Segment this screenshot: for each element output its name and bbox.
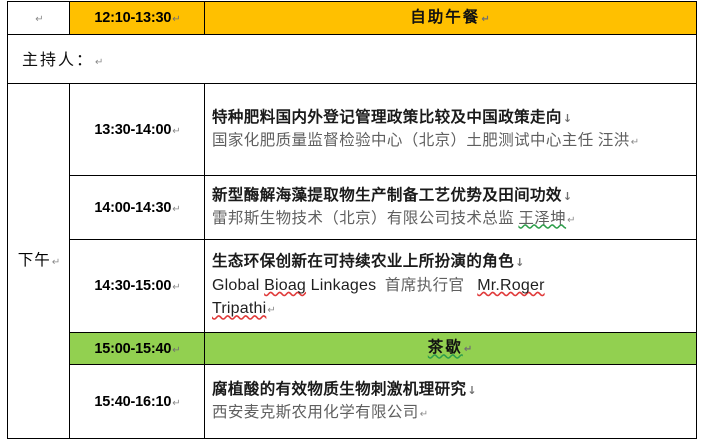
session-title: 新型酶解海藻提取物生产制备工艺优势及田间功效↓ [212, 185, 690, 207]
table-row: 主持人：↵ [8, 35, 697, 84]
speaker-role: 首席执行官 [385, 277, 465, 294]
cell-time-lunch[interactable]: 12:10-13:30↵ [70, 2, 205, 35]
agenda-table: ↵ 12:10-13:30↵ 自助午餐↵ 主 [7, 1, 697, 439]
cell-time-1430[interactable]: 14:30-15:00↵ [70, 240, 205, 333]
pilcrow-mark: ↵ [464, 344, 474, 355]
table-row: 下午↵ 13:30-14:00↵ 特种肥料国内外登记管理政策比较及中国政策走向↓… [8, 84, 697, 176]
soft-break-mark: ↓ [467, 384, 477, 397]
table-row: 15:00-15:40↵ 茶歇↵ [8, 333, 697, 365]
pilcrow-mark: ↵ [567, 215, 576, 226]
time-label: 14:30-15:00 [94, 278, 171, 294]
cell-time-1400[interactable]: 14:00-14:30↵ [70, 176, 205, 240]
org-name-part2: Bioag [264, 277, 306, 294]
pilcrow-mark: ↵ [481, 14, 491, 25]
pilcrow-mark: ↵ [267, 305, 276, 316]
pilcrow-mark: ↵ [172, 204, 180, 215]
speaker-name-last: Tripathi [212, 300, 266, 317]
session-speaker: 西安麦克斯农用化学有限公司↵ [212, 402, 690, 424]
pilcrow-mark: ↵ [35, 14, 43, 25]
session-speaker: 雷邦斯生物技术（北京）有限公司技术总监 王泽坤↵ [212, 208, 690, 230]
cell-detail-1330[interactable]: 特种肥料国内外登记管理政策比较及中国政策走向↓ 国家化肥质量监督检验中心（北京）… [205, 84, 697, 176]
pilcrow-mark: ↵ [172, 14, 180, 25]
time-label: 13:30-14:00 [94, 122, 171, 138]
session-title: 生态环保创新在可持续农业上所扮演的角色↓ [212, 251, 690, 273]
session-speaker-cont: Tripathi↵ [212, 297, 690, 320]
tea-break-label: 茶歇 [428, 339, 463, 356]
soft-break-mark: ↓ [563, 112, 573, 125]
soft-break-mark: ↓ [515, 256, 525, 269]
cell-detail-1540[interactable]: 腐植酸的有效物质生物刺激机理研究↓ 西安麦克斯农用化学有限公司↵ [205, 365, 697, 439]
pilcrow-mark: ↵ [172, 398, 180, 409]
session-speaker: 国家化肥质量监督检验中心（北京）土肥测试中心主任 汪洪↵ [212, 130, 690, 152]
table-row: 14:00-14:30↵ 新型酶解海藻提取物生产制备工艺优势及田间功效↓ 雷邦斯… [8, 176, 697, 240]
speaker-name-first: Mr.Roger [477, 277, 544, 294]
pilcrow-mark: ↵ [95, 57, 103, 68]
cell-time-1540[interactable]: 15:40-16:10↵ [70, 365, 205, 439]
lunch-banner-label: 自助午餐 [410, 9, 480, 26]
cell-period-empty[interactable]: ↵ [8, 2, 70, 35]
cell-host[interactable]: 主持人：↵ [8, 35, 697, 84]
session-title: 腐植酸的有效物质生物刺激机理研究↓ [212, 379, 690, 401]
cell-time-1330[interactable]: 13:30-14:00↵ [70, 84, 205, 176]
time-label: 15:40-16:10 [94, 394, 171, 410]
org-name-part1: Global [212, 277, 264, 294]
table-row: 14:30-15:00↵ 生态环保创新在可持续农业上所扮演的角色↓ Global… [8, 240, 697, 333]
pilcrow-mark: ↵ [52, 257, 60, 268]
cell-period-afternoon[interactable]: 下午↵ [8, 84, 70, 439]
speaker-name: 王泽坤 [518, 210, 566, 227]
pilcrow-mark: ↵ [172, 345, 180, 356]
pilcrow-mark: ↵ [172, 282, 180, 293]
host-label: 主持人： [22, 52, 94, 69]
table-row: ↵ 12:10-13:30↵ 自助午餐↵ [8, 2, 697, 35]
cell-detail-lunch[interactable]: 自助午餐↵ [205, 2, 697, 35]
org-name-part3: Linkages [306, 277, 376, 294]
pilcrow-mark: ↵ [172, 126, 180, 137]
cell-detail-1430[interactable]: 生态环保创新在可持续农业上所扮演的角色↓ Global Bioag Linkag… [205, 240, 697, 333]
cell-detail-1400[interactable]: 新型酶解海藻提取物生产制备工艺优势及田间功效↓ 雷邦斯生物技术（北京）有限公司技… [205, 176, 697, 240]
session-title: 特种肥料国内外登记管理政策比较及中国政策走向↓ [212, 107, 690, 129]
document-page: ↵ 12:10-13:30↵ 自助午餐↵ 主 [0, 0, 706, 440]
pilcrow-mark: ↵ [420, 409, 429, 420]
time-label: 15:00-15:40 [94, 341, 171, 357]
period-label: 下午 [18, 252, 51, 269]
time-label: 12:10-13:30 [94, 10, 171, 26]
session-speaker: Global Bioag Linkages 首席执行官 Mr.Roger [212, 274, 690, 297]
cell-detail-1500[interactable]: 茶歇↵ [205, 333, 697, 365]
time-label: 14:00-14:30 [94, 200, 171, 216]
table-row: 15:40-16:10↵ 腐植酸的有效物质生物刺激机理研究↓ 西安麦克斯农用化学… [8, 365, 697, 439]
cell-time-1500[interactable]: 15:00-15:40↵ [70, 333, 205, 365]
soft-break-mark: ↓ [563, 190, 573, 203]
pilcrow-mark: ↵ [631, 137, 640, 148]
